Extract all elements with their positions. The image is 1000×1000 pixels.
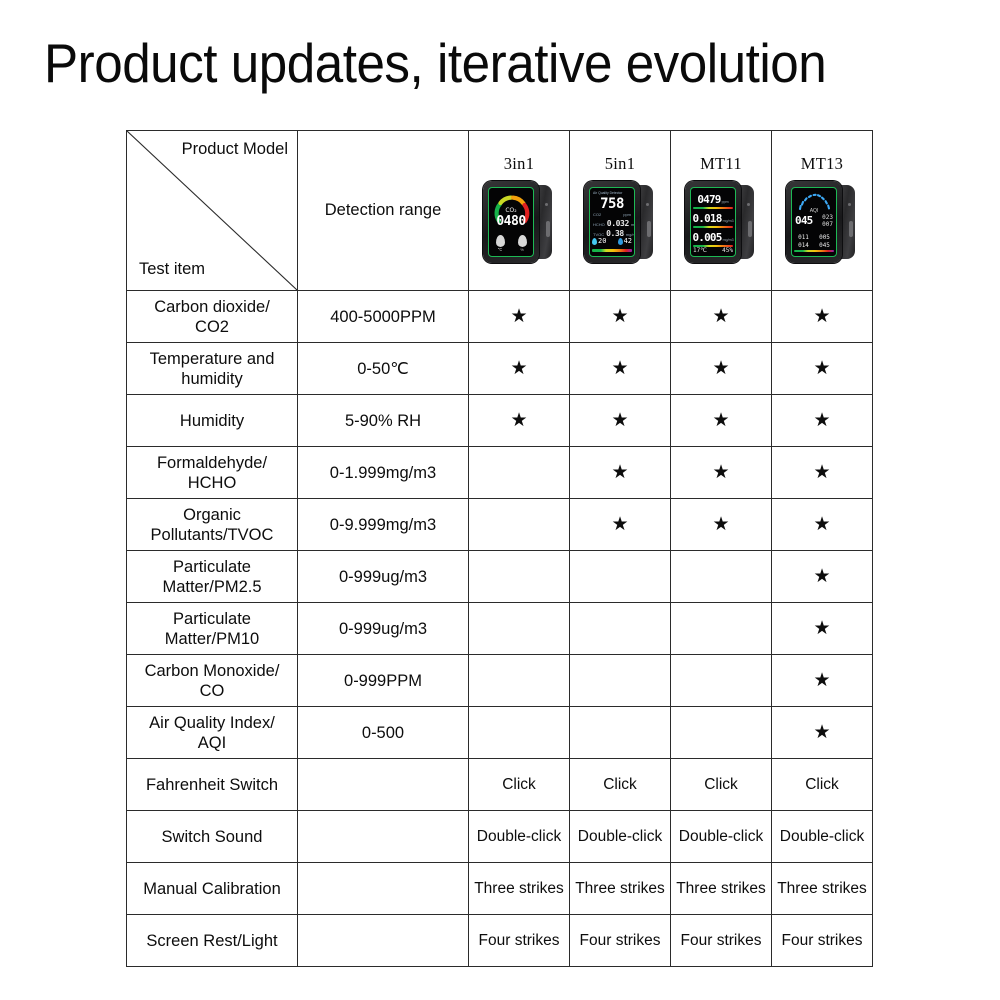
test-item-cell: Fahrenheit Switch [127, 759, 298, 811]
feature-value-cell [671, 551, 772, 603]
feature-value-cell: Click [570, 759, 671, 811]
support-star-cell: ★ [671, 447, 772, 499]
table-row: Carbon Monoxide/CO0-999PPM★ [127, 655, 873, 707]
feature-value-cell: Double-click [772, 811, 873, 863]
device-port-mt13 [848, 203, 851, 206]
screen-topbar-5in1: Air Quality Detector [593, 191, 631, 195]
test-item-cell: Humidity [127, 395, 298, 447]
test-item-cell: Formaldehyde/HCHO [127, 447, 298, 499]
water-drop-icon [618, 238, 623, 245]
aqi-big-value: 045 [795, 214, 812, 227]
support-star-cell: ★ [570, 499, 671, 551]
feature-value-cell: Four strikes [772, 915, 873, 967]
feature-value-cell [469, 707, 570, 759]
co2-value: 0480 [489, 214, 533, 229]
test-item-cell: ParticulateMatter/PM2.5 [127, 551, 298, 603]
device-port-5in1 [646, 203, 649, 206]
product-model-label: Product Model [182, 140, 288, 159]
detection-range-cell [298, 759, 469, 811]
hcho-value-mt11: 0.018 [692, 212, 721, 225]
feature-value-cell: Click [671, 759, 772, 811]
aqi-side-value-2: 007 [822, 221, 833, 228]
product-comparison-table: Product Model Test item Detection range … [126, 130, 873, 967]
product-header-3in1: 3in1 [469, 131, 570, 291]
feature-value-cell: Double-click [469, 811, 570, 863]
feature-value-cell [671, 603, 772, 655]
feature-value-cell [570, 603, 671, 655]
screen-title-5in1: Air Quality Detector [593, 191, 622, 195]
tvoc-unit-mt11: mg/m3 [723, 238, 734, 242]
detection-range-cell: 400-5000PPM [298, 291, 469, 343]
table-row: Screen Rest/LightFour strikesFour strike… [127, 915, 873, 967]
device-screen-mt11: 0479 ppm 0.018 mg/m3 [690, 187, 736, 257]
device-image-5in1: Air Quality Detector 758 CO2 ppm HCHO [581, 177, 659, 267]
co2-bar-mt11 [693, 207, 733, 209]
support-star-cell: ★ [570, 447, 671, 499]
humidity-value-5in1: 42 [624, 237, 632, 245]
feature-value-cell: Double-click [671, 811, 772, 863]
feature-value-cell: Three strikes [671, 863, 772, 915]
feature-value-cell [469, 447, 570, 499]
detection-range-cell [298, 811, 469, 863]
pm10-value-mt13: 014 [794, 242, 813, 249]
table-head: Product Model Test item Detection range … [127, 131, 873, 291]
support-star-cell: ★ [772, 499, 873, 551]
test-item-cell: Carbon Monoxide/CO [127, 655, 298, 707]
device-image-mt11: 0479 ppm 0.018 mg/m3 [682, 177, 760, 267]
support-star-cell: ★ [772, 395, 873, 447]
detection-range-cell: 0-9.999mg/m3 [298, 499, 469, 551]
page-title: Product updates, iterative evolution [44, 32, 900, 94]
support-star-cell: ★ [772, 655, 873, 707]
test-item-cell: Temperature andhumidity [127, 343, 298, 395]
product-header-5in1: 5in1 Air Quality Detector 758 [570, 131, 671, 291]
device-body-mt13: AQI 045 023 007 011 005 0 [786, 181, 842, 263]
feature-value-cell [671, 655, 772, 707]
support-star-cell: ★ [772, 603, 873, 655]
table-header-row: Product Model Test item Detection range … [127, 131, 873, 291]
support-star-cell: ★ [570, 291, 671, 343]
support-star-cell: ★ [772, 551, 873, 603]
air-quality-bar-mt13 [794, 250, 834, 252]
table-row: Manual CalibrationThree strikesThree str… [127, 863, 873, 915]
test-item-cell: Manual Calibration [127, 863, 298, 915]
test-item-label: Test item [139, 260, 205, 279]
table-row: Fahrenheit SwitchClickClickClickClick [127, 759, 873, 811]
device-port-mt11 [747, 203, 750, 206]
detection-range-cell: 0-50℃ [298, 343, 469, 395]
test-item-cell: Switch Sound [127, 811, 298, 863]
table-row: Temperature andhumidity0-50℃★★★★ [127, 343, 873, 395]
air-quality-bar-5in1 [592, 249, 632, 252]
device-image-mt13: AQI 045 023 007 011 005 0 [783, 177, 861, 267]
device-button-3in1 [546, 221, 550, 237]
detection-range-cell [298, 863, 469, 915]
device-button-mt13 [849, 221, 853, 237]
co2-block-mt11: 0479 ppm [693, 193, 733, 209]
co2-row-5in1: CO2 ppm [593, 212, 631, 217]
feature-value-cell [671, 707, 772, 759]
product-name-3in1: 3in1 [472, 154, 566, 174]
co2-unit-mt11: ppm [722, 200, 729, 204]
humidity-value-mt11: 45% [722, 247, 733, 254]
device-body-5in1: Air Quality Detector 758 CO2 ppm HCHO [584, 181, 640, 263]
hcho-bar-mt11 [693, 226, 733, 228]
detection-range-cell: 0-999ug/m3 [298, 603, 469, 655]
corner-header-cell: Product Model Test item [127, 131, 298, 291]
feature-value-cell: Click [772, 759, 873, 811]
support-star-cell: ★ [570, 395, 671, 447]
product-name-mt11: MT11 [674, 154, 768, 174]
feature-value-cell [469, 551, 570, 603]
feature-value-cell: Four strikes [469, 915, 570, 967]
temp-humidity-row-mt11: 17℃ 45% [693, 247, 733, 254]
hcho-unit-mt11: mg/m3 [723, 219, 734, 223]
device-button-mt11 [748, 221, 752, 237]
hcho-row-5in1: HCHO 0.032 mg/m3 [593, 219, 631, 228]
device-image-3in1: CO₂ 0480 ℃ [480, 177, 558, 267]
temp-humidity-row-5in1: 20 42 [592, 237, 632, 245]
support-star-cell: ★ [772, 291, 873, 343]
tvoc-value-mt11: 0.005 [692, 231, 721, 244]
feature-value-cell: Three strikes [570, 863, 671, 915]
device-body-mt11: 0479 ppm 0.018 mg/m3 [685, 181, 741, 263]
co2-value-mt11: 0479 [697, 193, 720, 206]
co2-value-5in1: 758 [590, 196, 634, 212]
aqi-side-value-1: 023 [822, 214, 833, 221]
product-name-mt13: MT13 [775, 154, 869, 174]
table-row: Humidity5-90% RH★★★★ [127, 395, 873, 447]
product-header-mt11: MT11 0479 ppm [671, 131, 772, 291]
test-item-cell: Carbon dioxide/CO2 [127, 291, 298, 343]
detection-range-cell: 0-500 [298, 707, 469, 759]
product-name-5in1: 5in1 [573, 154, 667, 174]
table-row: Switch SoundDouble-clickDouble-clickDoub… [127, 811, 873, 863]
feature-value-cell [570, 551, 671, 603]
mt13-readout-grid: 011 005 014 045 [794, 234, 834, 249]
co-value-mt13: 005 [815, 234, 834, 241]
table-row: Air Quality Index/AQI0-500★ [127, 707, 873, 759]
hcho-value-5in1: 0.032 [607, 219, 629, 228]
feature-value-cell [469, 603, 570, 655]
table-row: ParticulateMatter/PM2.50-999ug/m3★ [127, 551, 873, 603]
feature-value-cell [469, 499, 570, 551]
feature-value-cell: Double-click [570, 811, 671, 863]
test-item-cell: OrganicPollutants/TVOC [127, 499, 298, 551]
detection-range-header: Detection range [298, 131, 469, 291]
support-star-cell: ★ [469, 343, 570, 395]
table-row: Formaldehyde/HCHO0-1.999mg/m3★★★ [127, 447, 873, 499]
device-screen-mt13: AQI 045 023 007 011 005 0 [791, 187, 837, 257]
feature-value-cell: Click [469, 759, 570, 811]
detection-range-cell [298, 915, 469, 967]
temperature-block-5in1: 20 [592, 237, 606, 245]
humidity-unit-label: % [518, 247, 527, 252]
table-row: ParticulateMatter/PM100-999ug/m3★ [127, 603, 873, 655]
temp-unit-label: ℃ [496, 247, 505, 252]
support-star-cell: ★ [671, 499, 772, 551]
support-star-cell: ★ [772, 343, 873, 395]
support-star-cell: ★ [671, 395, 772, 447]
feature-value-cell: Three strikes [772, 863, 873, 915]
thermometer-icon: ℃ [496, 235, 505, 252]
device-port-3in1 [545, 203, 548, 206]
product-header-mt13: MT13 [772, 131, 873, 291]
test-item-cell: Air Quality Index/AQI [127, 707, 298, 759]
table-row: OrganicPollutants/TVOC0-9.999mg/m3★★★ [127, 499, 873, 551]
feature-value-cell: Three strikes [469, 863, 570, 915]
page-root: Product updates, iterative evolution Pro… [0, 0, 1000, 1000]
hcho-label-5in1: HCHO [593, 222, 605, 227]
device-screen-3in1: CO₂ 0480 ℃ [488, 187, 534, 257]
support-star-cell: ★ [671, 343, 772, 395]
detection-range-cell: 0-999ug/m3 [298, 551, 469, 603]
thermometer-icon [592, 238, 597, 245]
support-star-cell: ★ [671, 291, 772, 343]
hcho-unit-5in1: mg/m3 [631, 222, 635, 227]
detection-range-cell: 0-999PPM [298, 655, 469, 707]
detection-range-cell: 0-1.999mg/m3 [298, 447, 469, 499]
feature-value-cell: Four strikes [570, 915, 671, 967]
humidity-icon: % [518, 235, 527, 252]
table-body: Carbon dioxide/CO2400-5000PPM★★★★Tempera… [127, 291, 873, 967]
temp-value-5in1: 20 [598, 237, 606, 245]
support-star-cell: ★ [469, 291, 570, 343]
table-row: Carbon dioxide/CO2400-5000PPM★★★★ [127, 291, 873, 343]
feature-value-cell [570, 655, 671, 707]
humidity-block-5in1: 42 [618, 237, 632, 245]
support-star-cell: ★ [469, 395, 570, 447]
aqi-side-values: 023 007 [822, 214, 833, 228]
device-screen-5in1: Air Quality Detector 758 CO2 ppm HCHO [589, 187, 635, 257]
feature-value-cell: Four strikes [671, 915, 772, 967]
co2-unit-5in1: ppm [623, 212, 631, 217]
co2-label-5in1: CO2 [593, 212, 601, 217]
detection-range-cell: 5-90% RH [298, 395, 469, 447]
support-star-cell: ★ [772, 707, 873, 759]
support-star-cell: ★ [570, 343, 671, 395]
hcho-block-mt11: 0.018 mg/m3 [693, 212, 733, 228]
pm25-value-mt13: 011 [794, 234, 813, 241]
test-item-cell: Screen Rest/Light [127, 915, 298, 967]
tvoc-block-mt11: 0.005 mg/m3 [693, 231, 733, 247]
feature-value-cell [570, 707, 671, 759]
test-item-cell: ParticulateMatter/PM10 [127, 603, 298, 655]
co2-label: CO₂ [489, 207, 533, 214]
device-button-5in1 [647, 221, 651, 237]
temp-value-mt11: 17℃ [693, 247, 707, 254]
aqi-value-mt13: 045 [815, 242, 834, 249]
support-star-cell: ★ [772, 447, 873, 499]
screen-icon-row-3in1: ℃ % [489, 235, 533, 252]
device-body-3in1: CO₂ 0480 ℃ [483, 181, 539, 263]
feature-value-cell [469, 655, 570, 707]
